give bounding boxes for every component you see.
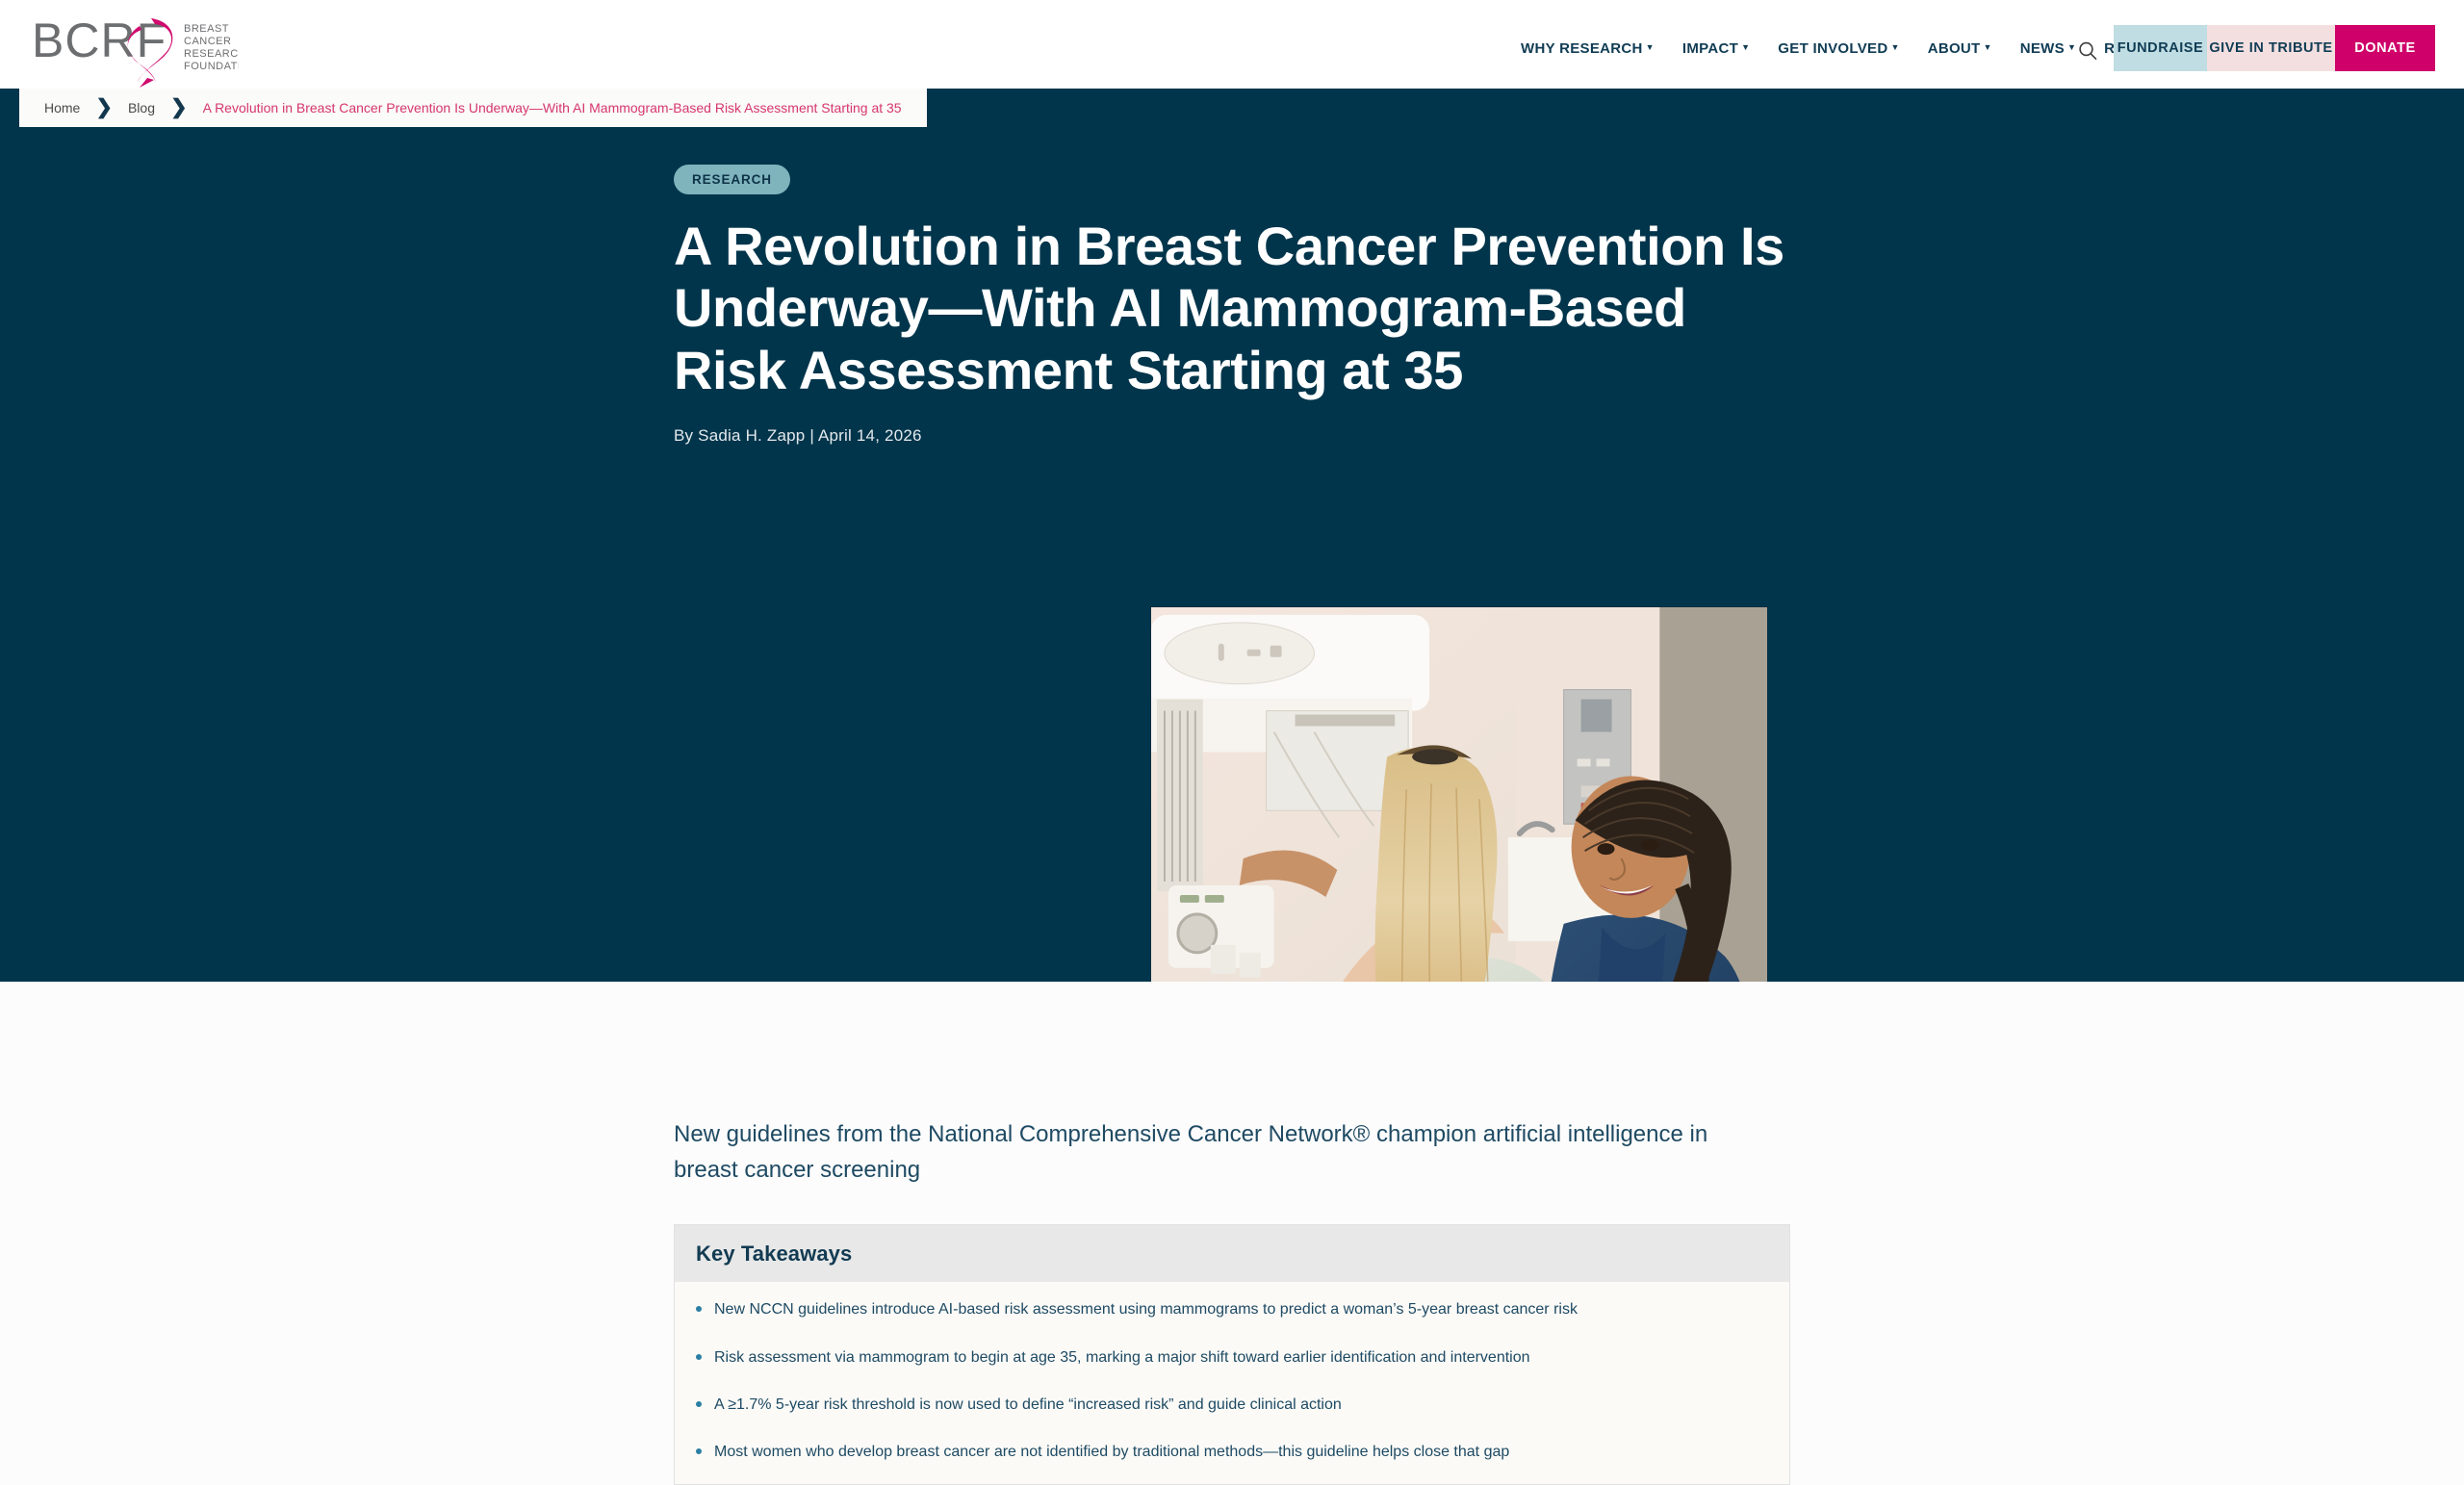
nav-item-impact[interactable]: IMPACT ▼ — [1682, 40, 1750, 57]
list-item-text: Most women who develop breast cancer are… — [714, 1441, 1509, 1463]
article-byline: By Sadia H. Zapp | April 14, 2026 — [674, 426, 1809, 446]
category-badge[interactable]: RESEARCH — [674, 165, 790, 194]
article-body: New guidelines from the National Compreh… — [0, 982, 2464, 1386]
hero-section: RESEARCH A Revolution in Breast Cancer P… — [0, 89, 2464, 982]
chevron-down-icon: ▼ — [1646, 43, 1655, 52]
header-cta-group: FUNDRAISE GIVE IN TRIBUTE DONATE — [2114, 25, 2435, 71]
donate-button[interactable]: DONATE — [2335, 25, 2435, 71]
page-title: A Revolution in Breast Cancer Prevention… — [674, 216, 1800, 401]
site-header: BCRF BREAST CANCER RESEARCH FOUNDATION W… — [0, 0, 2464, 94]
breadcrumb-home[interactable]: Home — [33, 100, 91, 115]
chevron-right-icon: ❯ — [91, 95, 116, 119]
bullet-icon — [696, 1354, 702, 1360]
svg-text:BCRF: BCRF — [32, 13, 167, 67]
chevron-down-icon: ▼ — [1741, 43, 1750, 52]
nav-item-label: ABOUT — [1928, 40, 1981, 57]
list-item: Risk assessment via mammogram to begin a… — [696, 1346, 1768, 1369]
nav-item-news[interactable]: NEWS ▼ — [2020, 40, 2076, 57]
key-takeaways-title: Key Takeaways — [696, 1242, 1768, 1267]
main-navigation: WHY RESEARCH ▼ IMPACT ▼ GET INVOLVED ▼ A… — [1521, 40, 2210, 57]
breadcrumb: Home ❯ Blog ❯ A Revolution in Breast Can… — [19, 89, 927, 127]
key-takeaways-header: Key Takeaways — [675, 1225, 1789, 1282]
give-in-tribute-button[interactable]: GIVE IN TRIBUTE — [2207, 25, 2335, 71]
chevron-right-icon: ❯ — [167, 95, 192, 119]
search-icon — [2076, 39, 2099, 63]
bcrf-logo-mark: BCRF BREAST CANCER RESEARCH FOUNDATION — [32, 11, 239, 88]
bullet-icon — [696, 1306, 702, 1312]
list-item-text: New NCCN guidelines introduce AI-based r… — [714, 1298, 1578, 1320]
article-content: New guidelines from the National Compreh… — [674, 982, 1790, 1485]
nav-item-get-involved[interactable]: GET INVOLVED ▼ — [1778, 40, 1899, 57]
bullet-icon — [696, 1448, 702, 1454]
breadcrumb-bar: Home ❯ Blog ❯ A Revolution in Breast Can… — [0, 89, 2464, 127]
nav-item-label: WHY RESEARCH — [1521, 40, 1643, 57]
chevron-down-icon: ▼ — [1890, 43, 1899, 52]
breadcrumb-current: A Revolution in Breast Cancer Prevention… — [192, 100, 913, 115]
nav-item-why-research[interactable]: WHY RESEARCH ▼ — [1521, 40, 1655, 57]
bcrf-logo[interactable]: BCRF BREAST CANCER RESEARCH FOUNDATION — [32, 11, 239, 88]
list-item: A ≥1.7% 5-year risk threshold is now use… — [696, 1394, 1768, 1416]
list-item-text: A ≥1.7% 5-year risk threshold is now use… — [714, 1394, 1342, 1416]
search-button[interactable] — [2071, 35, 2104, 67]
bullet-icon — [696, 1401, 702, 1407]
list-item: Most women who develop breast cancer are… — [696, 1441, 1768, 1463]
key-takeaways-box: Key Takeaways New NCCN guidelines introd… — [674, 1224, 1790, 1485]
svg-text:BREAST: BREAST — [184, 23, 229, 35]
nav-item-label: NEWS — [2020, 40, 2065, 57]
list-item-text: Risk assessment via mammogram to begin a… — [714, 1346, 1530, 1369]
svg-text:CANCER: CANCER — [184, 36, 231, 47]
breadcrumb-blog[interactable]: Blog — [116, 100, 167, 115]
chevron-down-icon: ▼ — [1984, 43, 1992, 52]
fundraise-button[interactable]: FUNDRAISE — [2114, 25, 2207, 71]
hero-content: RESEARCH A Revolution in Breast Cancer P… — [674, 89, 1809, 446]
nav-item-label: IMPACT — [1682, 40, 1738, 57]
nav-item-label: GET INVOLVED — [1778, 40, 1887, 57]
key-takeaways-list: New NCCN guidelines introduce AI-based r… — [675, 1282, 1789, 1484]
nav-item-about[interactable]: ABOUT ▼ — [1928, 40, 1992, 57]
svg-text:RESEARCH: RESEARCH — [184, 48, 239, 60]
svg-text:FOUNDATION: FOUNDATION — [184, 61, 239, 72]
list-item: New NCCN guidelines introduce AI-based r… — [696, 1298, 1768, 1320]
article-lede: New guidelines from the National Compreh… — [674, 1116, 1747, 1188]
